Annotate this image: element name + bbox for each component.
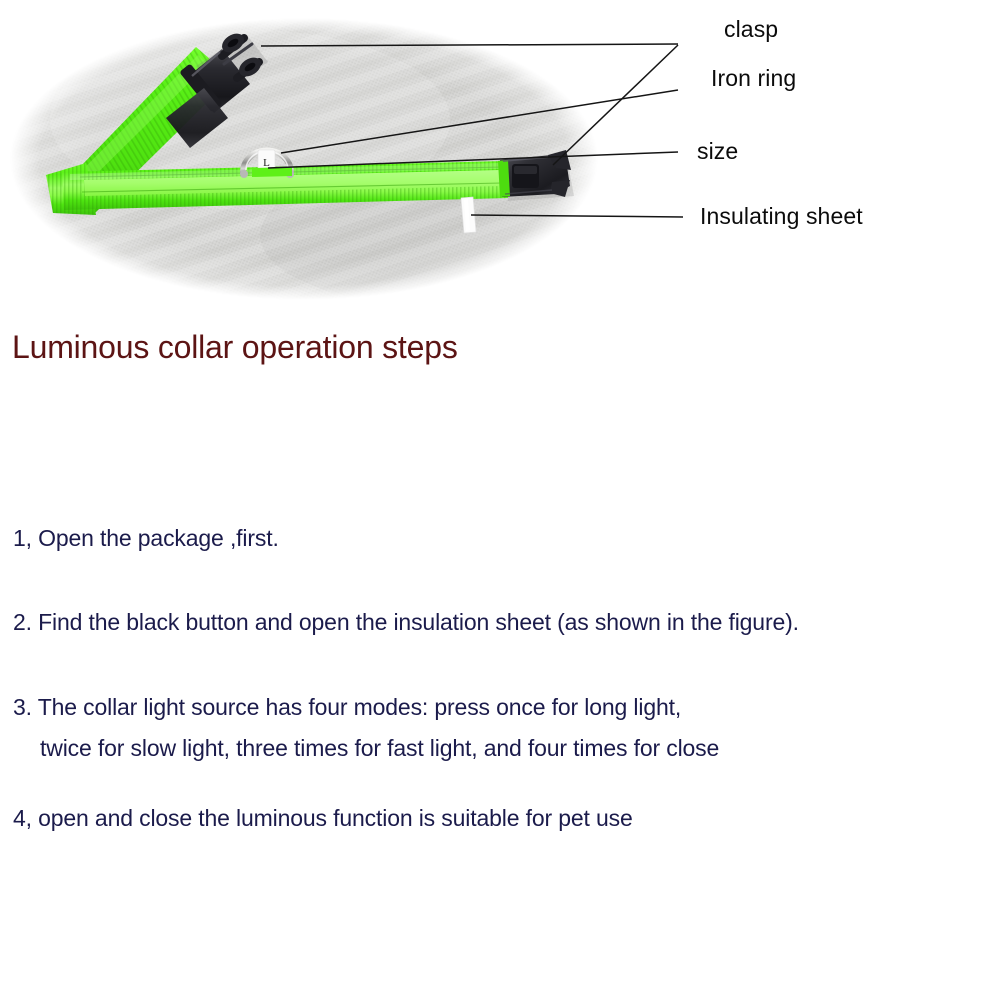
step-item-3-continued: twice for slow light, three times for fa… [40,735,719,761]
step-item-1: 1, Open the package ,first. [13,525,279,551]
operation-steps-list: 1, Open the package ,first. 2. Find the … [0,0,1000,1000]
step-item-4: 4, open and close the luminous function … [13,805,633,831]
step-item-2: 2. Find the black button and open the in… [13,609,799,635]
step-item-3: 3. The collar light source has four mode… [13,694,681,720]
